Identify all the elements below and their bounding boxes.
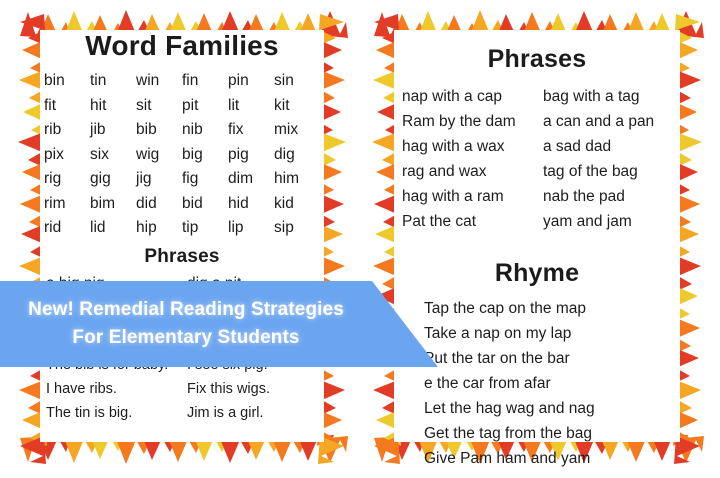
word-cell: jig xyxy=(136,168,182,191)
phrase-item: Pat the cat xyxy=(402,209,531,234)
sentence-item: I see six pig. xyxy=(187,353,318,377)
word-cell: fin xyxy=(182,70,228,93)
word-cell: rig xyxy=(44,168,90,191)
word-cell: fit xyxy=(44,95,90,118)
word-families-title: Word Families xyxy=(40,30,324,62)
right-phrases-list: nap with a capbag with a tagRam by the d… xyxy=(394,84,680,234)
left-sentences-list: The bib is for baby.I see six pig.I have… xyxy=(40,353,324,425)
word-cell: him xyxy=(274,168,320,191)
sentence-item: Jim is a girl. xyxy=(187,401,318,425)
left-phrases-heading: Phrases xyxy=(40,246,324,268)
word-cell: wig xyxy=(136,144,182,167)
word-families-content: Word Families bintinwinfinpinsinfithitsi… xyxy=(40,30,324,442)
word-cell: win xyxy=(136,70,182,93)
phrase-item: Ram by the dam xyxy=(402,109,531,134)
right-phrases-heading: Phrases xyxy=(394,44,680,74)
phrase-item: hag with a wax xyxy=(402,134,531,159)
sentence-item: The bib is for baby. xyxy=(46,353,177,377)
phrase-item: dig a pit xyxy=(187,272,318,295)
word-cell: jib xyxy=(90,119,136,142)
word-cell: mix xyxy=(274,119,320,142)
sentence-item: The tin is big. xyxy=(46,401,177,425)
word-cell: kid xyxy=(274,193,320,216)
rhyme-line: Get the tag from the bag xyxy=(424,421,680,446)
rhyme-line: Tap the cap on the map xyxy=(424,296,680,321)
phrase-item: nap with a cap xyxy=(402,84,531,109)
word-cell: rid xyxy=(44,217,90,240)
word-cell: hip xyxy=(136,217,182,240)
word-cell: sip xyxy=(274,217,320,240)
word-cell: tip xyxy=(182,217,228,240)
phrase-item: tag of the bag xyxy=(543,159,672,184)
word-cell: fix xyxy=(228,119,274,142)
phrase-item: a big pig xyxy=(46,272,177,295)
sentence-item: Fix this wigs. xyxy=(187,377,318,401)
word-cell: rib xyxy=(44,119,90,142)
word-cell: sin xyxy=(274,70,320,93)
phrase-item: rag and wax xyxy=(402,159,531,184)
word-cell: bim xyxy=(90,193,136,216)
word-cell: sit xyxy=(136,95,182,118)
phrases-rhyme-content: Phrases nap with a capbag with a tagRam … xyxy=(394,30,680,442)
phrase-item: a sad dad xyxy=(543,134,672,159)
phrase-item: nab the pad xyxy=(543,184,672,209)
word-cell: hid xyxy=(228,193,274,216)
word-cell: bin xyxy=(44,70,90,93)
word-cell: did xyxy=(136,193,182,216)
word-cell: pin xyxy=(228,70,274,93)
word-cell: pix xyxy=(44,144,90,167)
word-cell: rim xyxy=(44,193,90,216)
word-cell: bid xyxy=(182,193,228,216)
rhyme-line: Put the tar on the bar xyxy=(424,346,680,371)
phrase-item: yam and jam xyxy=(543,209,672,234)
rhyme-line: Take a nap on my lap xyxy=(424,321,680,346)
word-cell: lit xyxy=(228,95,274,118)
word-families-card: Word Families bintinwinfinpinsinfithitsi… xyxy=(14,6,350,468)
phrase-item: hag with a ram xyxy=(402,184,531,209)
word-cell: gig xyxy=(90,168,136,191)
rhyme-line: Give Pam ham and yam xyxy=(424,446,680,468)
word-cell: pit xyxy=(182,95,228,118)
sentence-item: I have ribs. xyxy=(46,377,177,401)
rhyme-lines-list: Tap the cap on the mapTake a nap on my l… xyxy=(394,296,680,468)
word-cell: pig xyxy=(228,144,274,167)
phrases-rhyme-card: Phrases nap with a capbag with a tagRam … xyxy=(368,6,706,468)
word-cell: hit xyxy=(90,95,136,118)
word-cell: kit xyxy=(274,95,320,118)
word-cell: nib xyxy=(182,119,228,142)
word-cell: lip xyxy=(228,217,274,240)
rhyme-line: e the car from afar xyxy=(424,371,680,396)
word-cell: dig xyxy=(274,144,320,167)
word-cell: bib xyxy=(136,119,182,142)
rhyme-line: Let the hag wag and nag xyxy=(424,396,680,421)
phrase-item: a can and a pan xyxy=(543,109,672,134)
rhyme-heading: Rhyme xyxy=(394,258,680,288)
word-cell: dim xyxy=(228,168,274,191)
word-cell: tin xyxy=(90,70,136,93)
phrase-item: bag with a tag xyxy=(543,84,672,109)
left-phrases-list: a big pigdig a pit xyxy=(40,272,324,295)
poster-page: Word Families bintinwinfinpinsinfithitsi… xyxy=(0,0,720,478)
word-cell: big xyxy=(182,144,228,167)
word-family-grid: bintinwinfinpinsinfithitsitpitlitkitribj… xyxy=(40,70,324,240)
word-cell: six xyxy=(90,144,136,167)
word-cell: lid xyxy=(90,217,136,240)
word-cell: fig xyxy=(182,168,228,191)
